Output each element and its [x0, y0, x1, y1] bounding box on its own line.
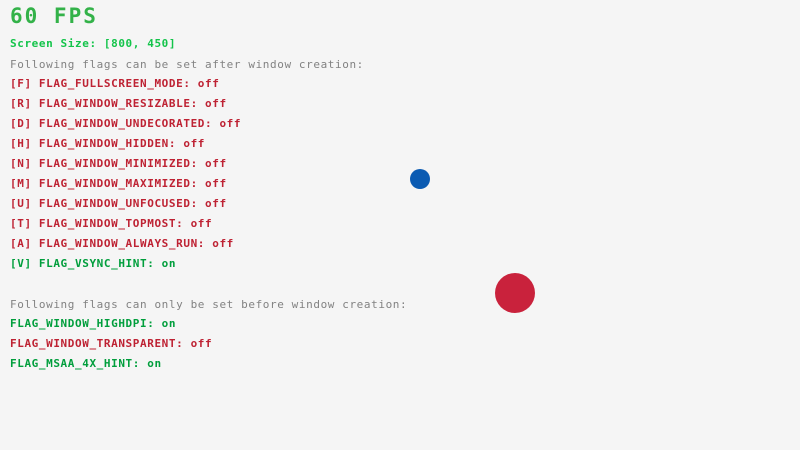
screen-size-readout: Screen Size: [800, 450]	[10, 38, 176, 49]
flag-row-window-undecorated[interactable]: [D] FLAG_WINDOW_UNDECORATED: off	[10, 118, 241, 129]
flag-row-window-maximized[interactable]: [M] FLAG_WINDOW_MAXIMIZED: off	[10, 178, 227, 189]
flag-row-window-topmost[interactable]: [T] FLAG_WINDOW_TOPMOST: off	[10, 218, 212, 229]
flag-row-vsync-hint[interactable]: [V] FLAG_VSYNC_HINT: on	[10, 258, 176, 269]
flag-row-fullscreen-mode[interactable]: [F] FLAG_FULLSCREEN_MODE: off	[10, 78, 219, 89]
section-heading-after-creation: Following flags can be set after window …	[10, 59, 364, 70]
flag-row-window-unfocused[interactable]: [U] FLAG_WINDOW_UNFOCUSED: off	[10, 198, 227, 209]
flag-row-window-always-run[interactable]: [A] FLAG_WINDOW_ALWAYS_RUN: off	[10, 238, 234, 249]
section-heading-before-creation: Following flags can only be set before w…	[10, 299, 407, 310]
blue-ball-shape	[410, 169, 430, 189]
red-ball-shape	[495, 273, 535, 313]
raylib-window-canvas[interactable]: 60 FPS Screen Size: [800, 450] Following…	[0, 0, 800, 450]
flag-row-window-hidden[interactable]: [H] FLAG_WINDOW_HIDDEN: off	[10, 138, 205, 149]
flag-row-window-transparent: FLAG_WINDOW_TRANSPARENT: off	[10, 338, 212, 349]
flag-row-window-resizable[interactable]: [R] FLAG_WINDOW_RESIZABLE: off	[10, 98, 227, 109]
fps-counter: 60 FPS	[10, 6, 98, 27]
flag-row-window-highdpi: FLAG_WINDOW_HIGHDPI: on	[10, 318, 176, 329]
flag-row-window-minimized[interactable]: [N] FLAG_WINDOW_MINIMIZED: off	[10, 158, 227, 169]
flag-row-msaa-4x-hint: FLAG_MSAA_4X_HINT: on	[10, 358, 162, 369]
